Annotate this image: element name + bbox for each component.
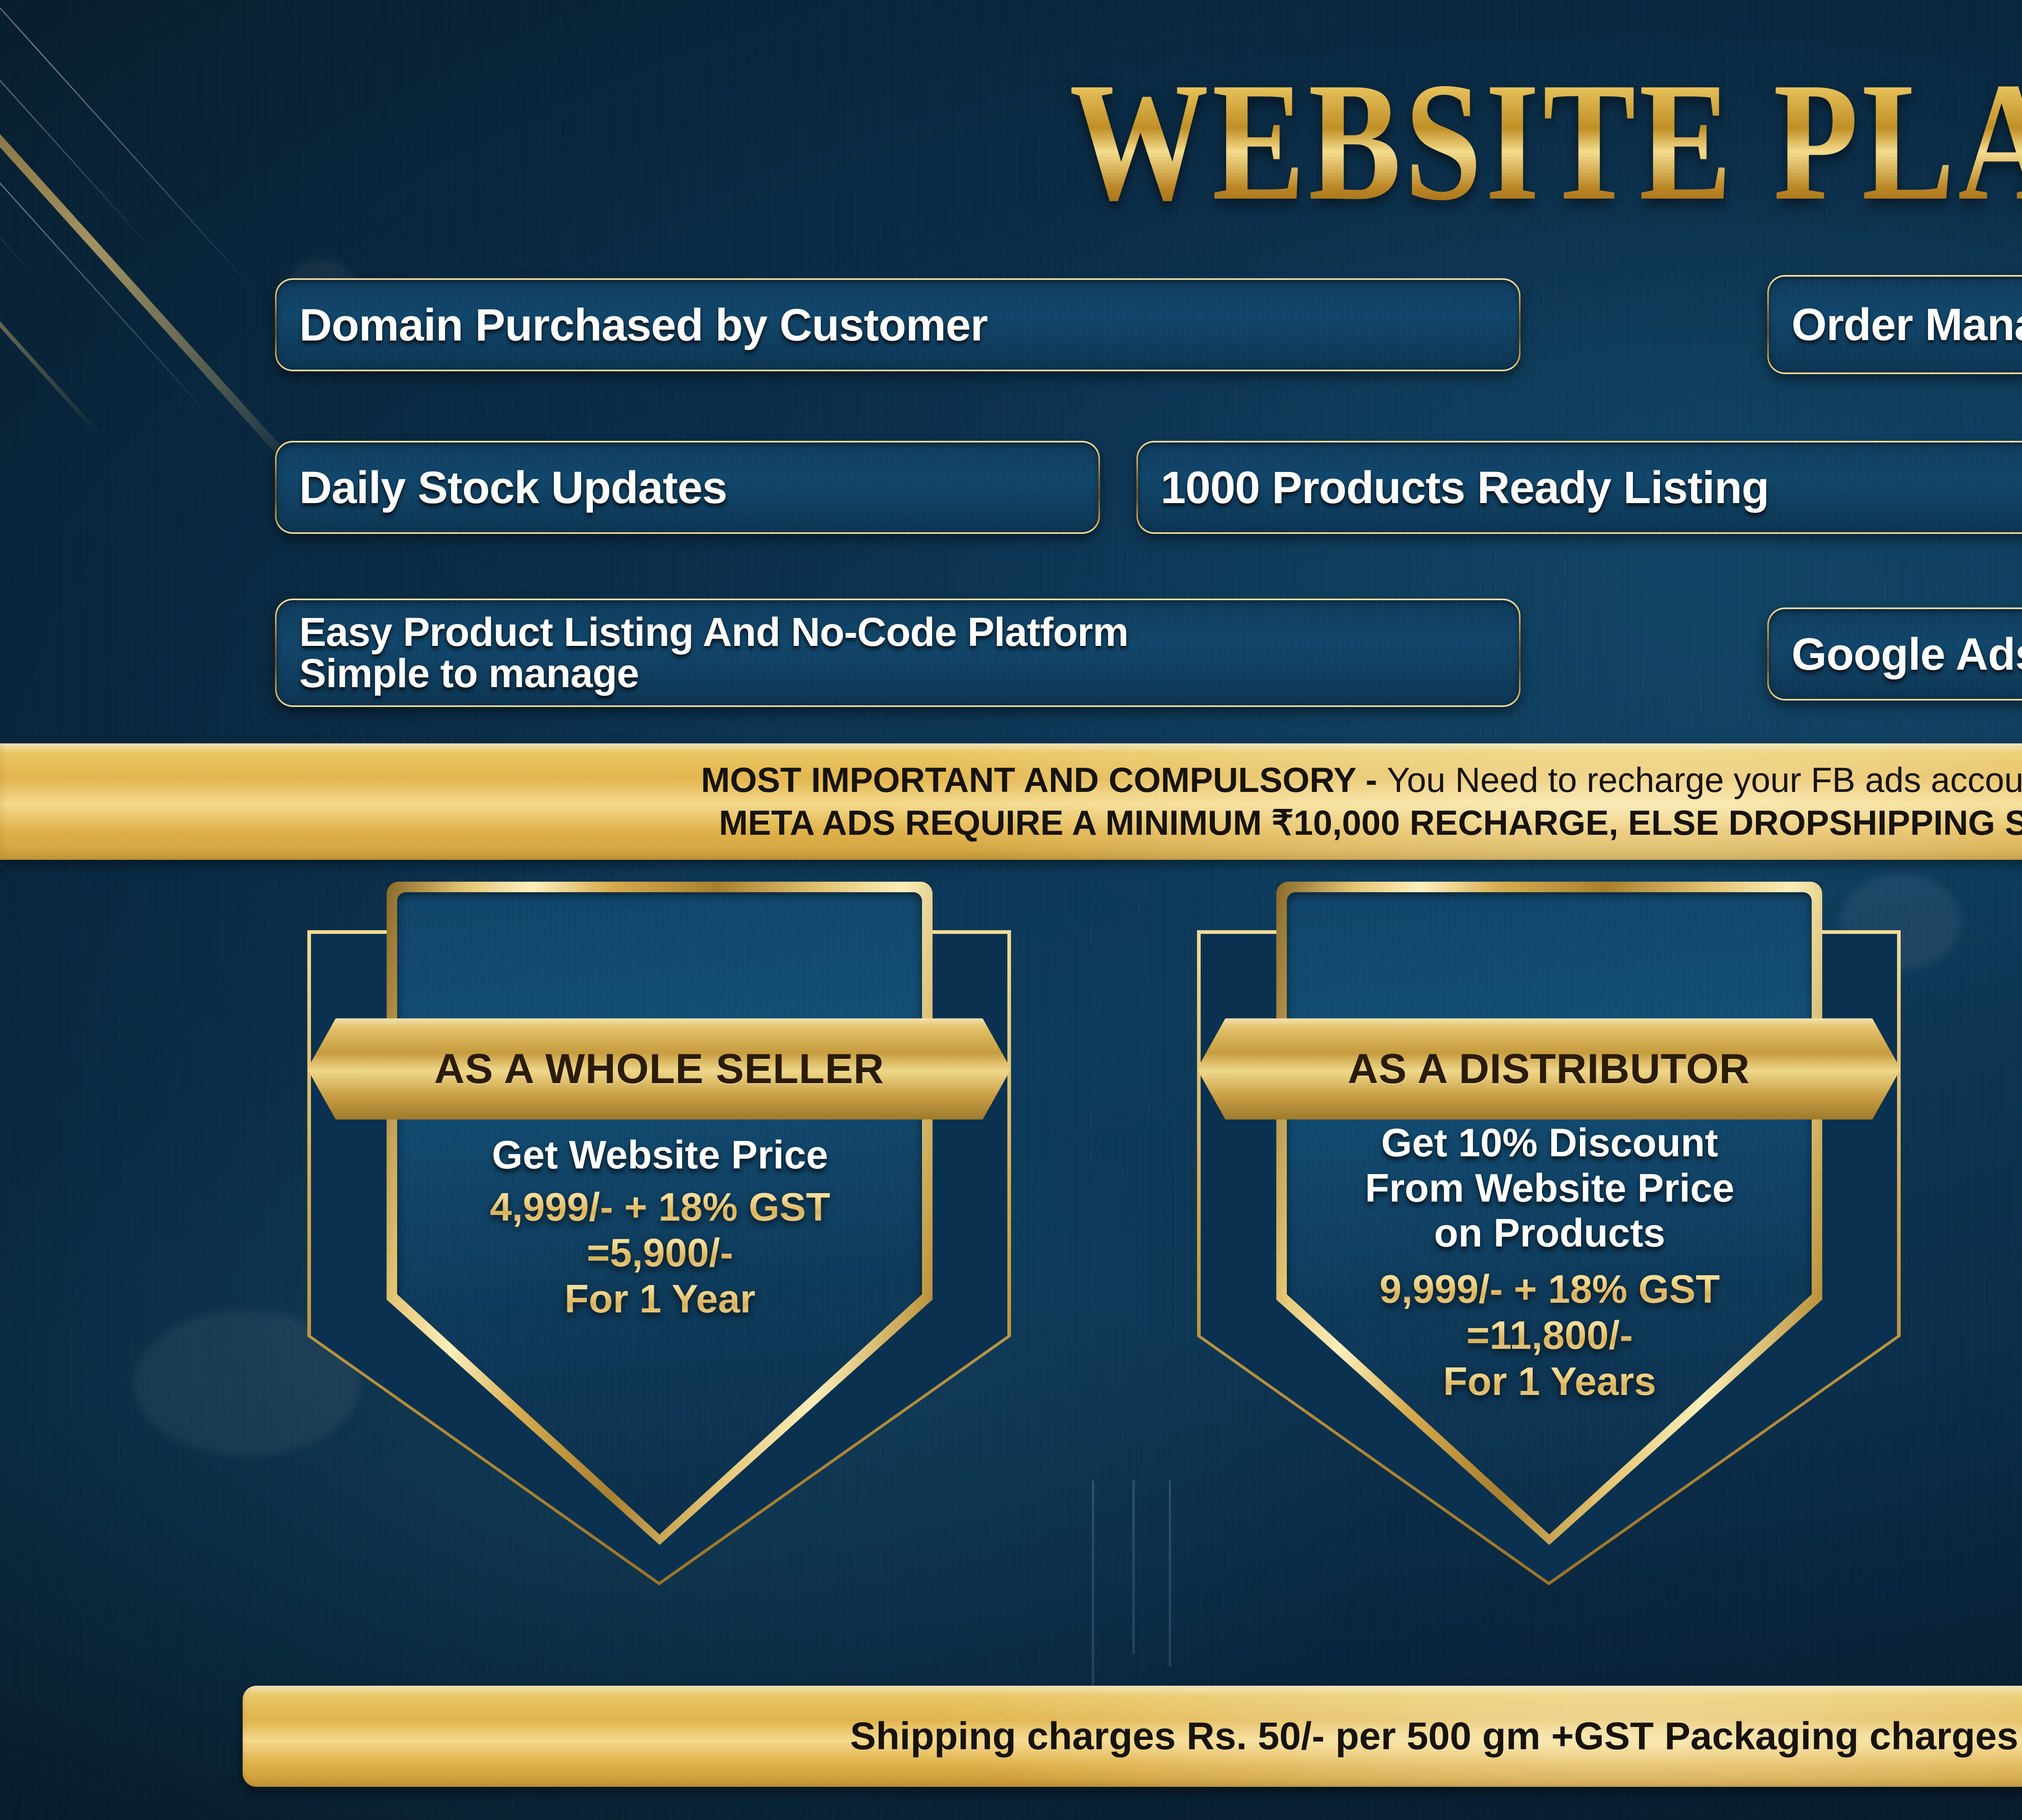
circuit-trace	[1169, 1480, 1171, 1666]
banner-line-1-strong: MOST IMPORTANT AND COMPULSORY -	[701, 761, 1387, 800]
feature-label-easy-listing: Easy Product Listing And No-Code Platfor…	[277, 612, 1128, 694]
ribbon-label-whole-seller: AS A WHOLE SELLER	[434, 1045, 884, 1093]
plan-gold-line: For 1 Year	[401, 1276, 919, 1322]
shipping-charges-text: Shipping charges Rs. 50/- per 500 gm +GS…	[850, 1714, 2022, 1759]
feature-label-google-ads: Google Ads & Meta Pixel Integration	[1769, 628, 2022, 680]
feature-label-easy-listing-line1: Easy Product Listing And No-Code Platfor…	[299, 609, 1128, 655]
circuit-trace	[1132, 1480, 1135, 1654]
feature-label-domain: Domain Purchased by Customer	[277, 299, 988, 351]
feature-box-products-listing[interactable]: 1000 Products Ready Listing	[1136, 441, 2022, 534]
plan-white-line: From Website Price	[1291, 1166, 1808, 1211]
feature-box-order-management[interactable]: Order Management Panel No Monthly Hostin…	[1767, 275, 2022, 374]
plan-gold-line: 9,999/- + 18% GST	[1291, 1266, 1808, 1312]
ribbon-label-distributor: AS A DISTRIBUTOR	[1348, 1045, 1750, 1093]
feature-box-google-ads[interactable]: Google Ads & Meta Pixel Integration	[1767, 607, 2022, 700]
plan-shield-whole-seller[interactable]: AS A WHOLE SELLER Get Website Price 4,99…	[307, 882, 1011, 1618]
plan-white-line: Get Website Price	[401, 1132, 919, 1178]
shield-ribbon-whole-seller: AS A WHOLE SELLER	[307, 1018, 1011, 1120]
feature-box-daily-stock[interactable]: Daily Stock Updates	[275, 441, 1100, 534]
plan-shield-distributor[interactable]: AS A DISTRIBUTOR Get 10% Discount From W…	[1197, 882, 1901, 1618]
shield-content-distributor: Get 10% Discount From Website Price on P…	[1291, 1120, 1808, 1404]
plan-gold-line: =5,900/-	[401, 1230, 919, 1276]
circuit-trace	[1092, 1480, 1094, 1699]
shipping-charges-bar: Shipping charges Rs. 50/- per 500 gm +GS…	[243, 1686, 2022, 1787]
banner-line-2: META ADS REQUIRE A MINIMUM ₹10,000 RECHA…	[719, 803, 2022, 843]
banner-line-1: MOST IMPORTANT AND COMPULSORY - You Need…	[701, 760, 2022, 800]
plan-gold-line: For 1 Years	[1291, 1359, 1808, 1405]
compulsory-notice-banner: MOST IMPORTANT AND COMPULSORY - You Need…	[0, 743, 2022, 860]
poster-canvas: WEBSITE PLAN Domain Purchased by Custome…	[0, 0, 2022, 1820]
plan-white-line: on Products	[1291, 1211, 1808, 1256]
page-title: WEBSITE PLAN	[291, 57, 2022, 226]
banner-line-1-rest: You Need to recharge your FB ads account…	[1387, 761, 2022, 800]
plan-white-line: Get 10% Discount	[1291, 1120, 1808, 1166]
feature-box-domain[interactable]: Domain Purchased by Customer	[275, 278, 1521, 371]
feature-label-products-listing: 1000 Products Ready Listing	[1138, 461, 1769, 514]
feature-label-easy-listing-line2: Simple to manage	[299, 653, 1128, 694]
shield-ribbon-distributor: AS A DISTRIBUTOR	[1197, 1018, 1901, 1120]
feature-label-daily-stock: Daily Stock Updates	[277, 461, 727, 514]
plan-gold-line: =11,800/-	[1291, 1312, 1808, 1359]
feature-box-easy-listing[interactable]: Easy Product Listing And No-Code Platfor…	[275, 599, 1521, 707]
plan-gold-line: 4,999/- + 18% GST	[401, 1184, 919, 1230]
feature-label-order-management: Order Management Panel	[1769, 298, 2022, 351]
shield-content-whole-seller: Get Website Price 4,999/- + 18% GST =5,9…	[401, 1132, 919, 1322]
